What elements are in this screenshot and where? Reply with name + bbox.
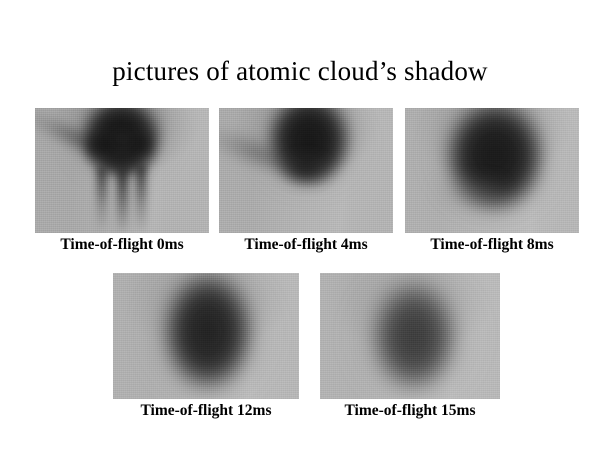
cloud-halo-4ms xyxy=(247,108,371,196)
frame-vignette-8ms xyxy=(405,108,579,233)
caption-tof-0ms: Time-of-flight 0ms xyxy=(35,236,209,254)
cloud-halo-15ms xyxy=(348,273,482,399)
page-title: pictures of atomic cloud’s shadow xyxy=(0,56,600,86)
panel-tof-8ms[interactable] xyxy=(405,108,579,233)
cloud-streak-left-0ms xyxy=(97,166,107,233)
caption-tof-8ms: Time-of-flight 8ms xyxy=(405,236,579,254)
cloud-streak-diagonal-4ms xyxy=(219,115,334,193)
slide-canvas: pictures of atomic cloud’s shadow Time-o… xyxy=(0,0,600,450)
frame-vignette-0ms xyxy=(35,108,209,233)
panel-tof-0ms[interactable] xyxy=(35,108,209,233)
frame-vignette-12ms xyxy=(113,273,299,399)
cloud-halo-8ms xyxy=(425,108,565,222)
panel-tof-4ms[interactable] xyxy=(219,108,393,233)
frame-vignette-4ms xyxy=(219,108,393,233)
caption-tof-12ms: Time-of-flight 12ms xyxy=(113,402,299,420)
cloud-streak-diagonal-0ms xyxy=(35,108,160,185)
cloud-core-12ms xyxy=(159,273,257,395)
film-grain-8ms xyxy=(405,108,579,233)
cloud-halo-0ms xyxy=(61,108,183,188)
cloud-core-8ms xyxy=(443,108,547,214)
film-grain-0ms xyxy=(35,108,209,233)
shadow-image-15ms xyxy=(320,273,500,399)
caption-tof-15ms: Time-of-flight 15ms xyxy=(320,402,500,420)
cloud-tail-4ms xyxy=(279,156,331,194)
film-grain-15ms xyxy=(320,273,500,399)
shadow-image-0ms xyxy=(35,108,209,233)
cloud-core-lobes-0ms xyxy=(87,130,153,166)
shadow-image-12ms xyxy=(113,273,299,399)
cloud-streak-right-0ms xyxy=(136,164,146,233)
film-grain-4ms xyxy=(219,108,393,233)
cloud-streak-center-0ms xyxy=(117,164,128,233)
cloud-core-15ms xyxy=(368,277,460,395)
frame-vignette-15ms xyxy=(320,273,500,399)
caption-tof-4ms: Time-of-flight 4ms xyxy=(219,236,393,254)
panel-tof-12ms[interactable] xyxy=(113,273,299,399)
film-grain-12ms xyxy=(113,273,299,399)
cloud-halo-12ms xyxy=(139,273,279,399)
panel-tof-15ms[interactable] xyxy=(320,273,500,399)
shadow-image-4ms xyxy=(219,108,393,233)
cloud-core-0ms xyxy=(79,108,163,176)
cloud-lower-shade-8ms xyxy=(411,180,501,220)
cloud-core-4ms xyxy=(266,108,352,184)
shadow-image-8ms xyxy=(405,108,579,233)
